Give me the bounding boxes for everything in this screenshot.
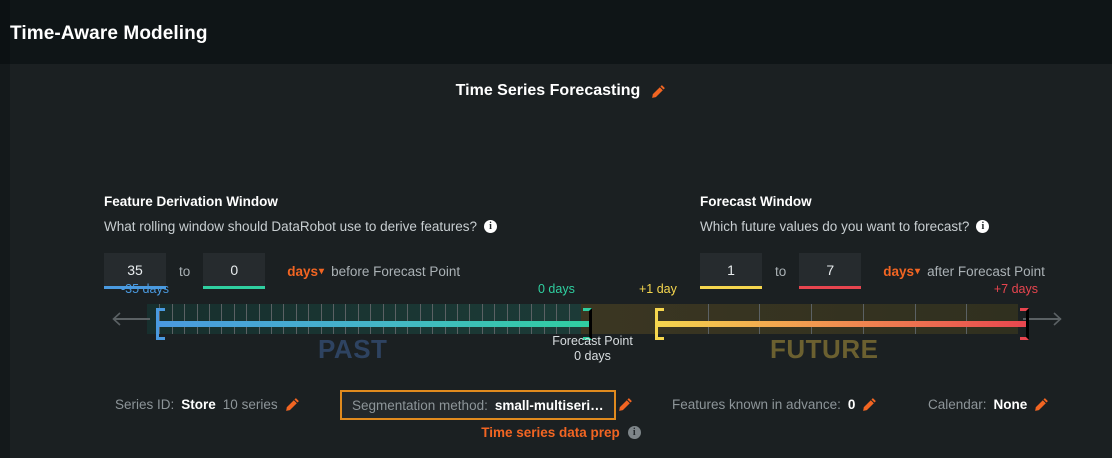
series-id-value: Store — [181, 397, 216, 412]
fdw-relation-label: before Forecast Point — [331, 264, 460, 279]
arrow-right-icon — [1049, 312, 1063, 326]
page-header: Time-Aware Modeling — [0, 0, 1112, 64]
calendar-item: Calendar: None — [928, 397, 1049, 412]
fw-unit-select[interactable]: days ▾ after Forecast Point — [883, 264, 1045, 279]
timeline-label-past-start: -35 days — [121, 282, 169, 296]
feature-derivation-window-section: Feature Derivation Window What rolling w… — [104, 194, 497, 289]
fw-relation-label: after Forecast Point — [927, 264, 1045, 279]
segmentation-method-value: small-multiseri… — [495, 398, 604, 413]
time-series-data-prep-info-icon[interactable]: i — [628, 426, 641, 439]
fw-question-row: Which future values do you want to forec… — [700, 219, 1045, 234]
arrow-left-icon — [111, 312, 125, 326]
fw-heading: Forecast Window — [700, 194, 1045, 209]
timeline-past-ticks — [147, 304, 581, 334]
fw-unit-label: days — [883, 264, 914, 279]
page-title: Time-Aware Modeling — [10, 23, 208, 45]
timeline-era-past: PAST — [318, 334, 387, 365]
panel-title-row: Time Series Forecasting — [10, 82, 1112, 100]
timeline-label-future-start: +1 day — [639, 282, 677, 296]
fdw-question-row: What rolling window should DataRobot use… — [104, 219, 497, 234]
series-id-item: Series ID: Store 10 series — [115, 397, 300, 412]
segmentation-method-edit-pencil-icon[interactable] — [618, 397, 633, 412]
features-known-edit-pencil-icon[interactable] — [862, 397, 877, 412]
timeline-label-forecast-point: 0 days — [538, 282, 575, 296]
series-id-edit-pencil-icon[interactable] — [285, 397, 300, 412]
series-count: 10 series — [223, 397, 278, 412]
forecast-point-caption: Forecast Point 0 days — [510, 334, 675, 364]
forecast-window-section: Forecast Window Which future values do y… — [700, 194, 1045, 289]
features-known-label: Features known in advance: — [672, 397, 841, 412]
segmentation-method-label: Segmentation method: — [352, 398, 488, 413]
panel-title: Time Series Forecasting — [456, 82, 641, 100]
forecasting-panel: Time Series Forecasting Feature Derivati… — [10, 64, 1112, 458]
timeline-bracket-future-end[interactable] — [1020, 308, 1029, 340]
timeline-future-bar — [656, 321, 1029, 327]
timeline-future-ticks — [581, 304, 1018, 334]
timeline-track — [10, 304, 1112, 334]
calendar-value: None — [994, 397, 1028, 412]
calendar-label: Calendar: — [928, 397, 987, 412]
timeseries-meta-row: Series ID: Store 10 series Segmentation … — [10, 390, 1112, 424]
timeline-label-future-end: +7 days — [994, 282, 1038, 296]
fw-to-label: to — [762, 264, 799, 279]
time-aware-modeling-page: Time-Aware Modeling Time Series Forecast… — [0, 0, 1112, 458]
time-series-data-prep-link[interactable]: Time series data prep i — [10, 425, 1112, 440]
fdw-unit-label: days — [287, 264, 318, 279]
fdw-unit-select[interactable]: days ▾ before Forecast Point — [287, 264, 460, 279]
features-known-in-advance-item: Features known in advance: 0 — [672, 397, 877, 412]
chevron-down-icon: ▾ — [319, 267, 324, 277]
panel-left-edge — [0, 64, 10, 458]
forecast-timeline: -35 days 0 days +1 day +7 days — [10, 282, 1112, 382]
timeline-labels: -35 days 0 days +1 day +7 days — [10, 282, 1112, 300]
fdw-to-label: to — [166, 264, 203, 279]
fw-info-icon[interactable]: i — [976, 220, 989, 233]
calendar-edit-pencil-icon[interactable] — [1034, 397, 1049, 412]
header-left-strip — [0, 0, 10, 64]
fdw-info-icon[interactable]: i — [484, 220, 497, 233]
series-id-label: Series ID: — [115, 397, 174, 412]
time-series-data-prep-label: Time series data prep — [481, 425, 620, 440]
panel-edit-pencil-icon[interactable] — [651, 84, 666, 99]
forecast-point-caption-line1: Forecast Point — [510, 334, 675, 349]
fdw-heading: Feature Derivation Window — [104, 194, 497, 209]
fw-question: Which future values do you want to forec… — [700, 219, 969, 234]
segmentation-method-item[interactable]: Segmentation method: small-multiseri… — [340, 390, 616, 420]
features-known-value: 0 — [848, 397, 856, 412]
timeline-past-bar — [157, 321, 592, 327]
timeline-bracket-past-start[interactable] — [156, 308, 165, 340]
timeline-era-future: FUTURE — [770, 334, 878, 365]
chevron-down-icon: ▾ — [915, 267, 920, 277]
fdw-question: What rolling window should DataRobot use… — [104, 219, 477, 234]
forecast-point-caption-line2: 0 days — [510, 349, 675, 364]
